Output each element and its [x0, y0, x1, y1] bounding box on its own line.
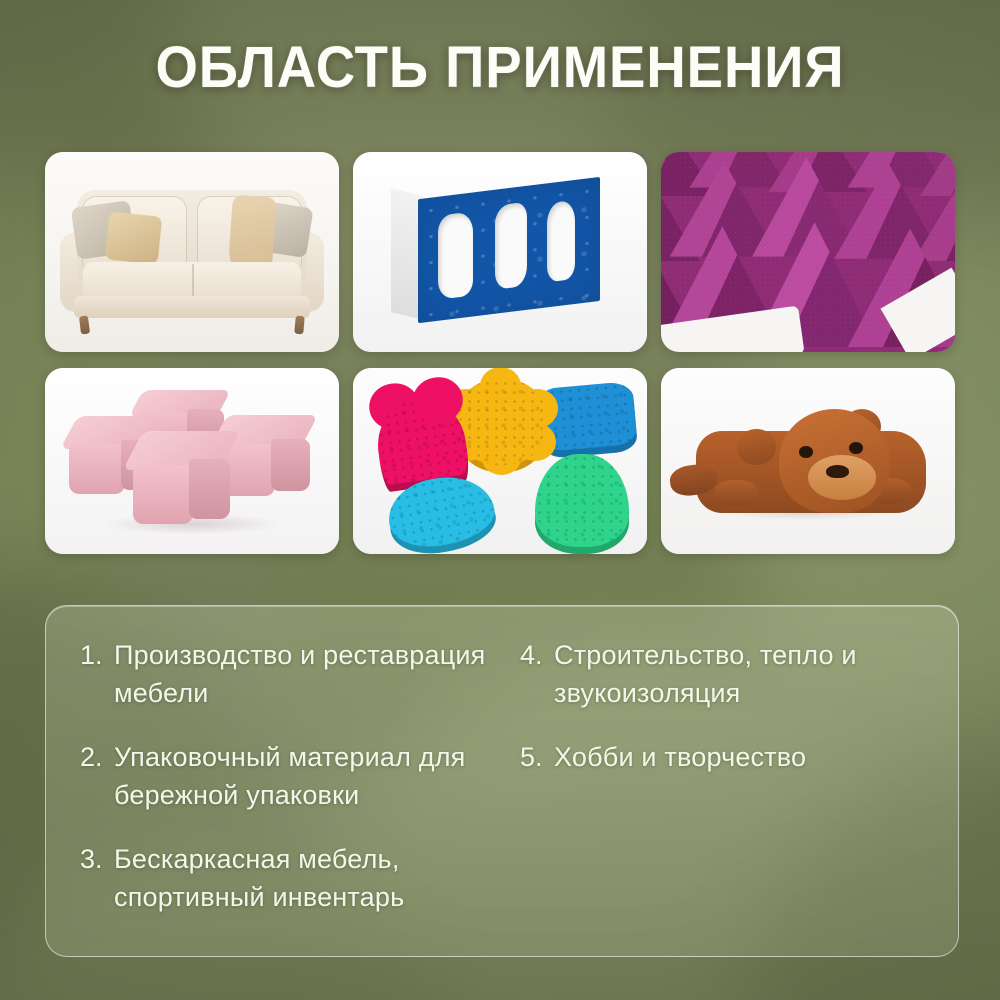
list-item: 3. Бескаркасная мебель, спортивный инвен…	[80, 840, 492, 916]
gallery-card-packaging[interactable]	[353, 152, 647, 352]
teddy-bear-pillow-photo	[661, 368, 955, 554]
gallery-card-sponges[interactable]	[353, 368, 647, 554]
gallery-card-teddy-bear[interactable]	[661, 368, 955, 554]
list-item: 4. Строительство, тепло и звукоизоляция	[520, 636, 932, 712]
list-item-label: Упаковочный материал для бережной упаков…	[114, 738, 492, 814]
list-item: 2. Упаковочный материал для бережной упа…	[80, 738, 492, 814]
list-item-label: Производство и реставрация мебели	[114, 636, 492, 712]
list-item-label: Хобби и творчество	[554, 738, 806, 776]
list-item: 1. Производство и реставрация мебели	[80, 636, 492, 712]
list-item-number: 5.	[520, 738, 554, 776]
beige-sofa-photo	[45, 152, 339, 352]
applications-panel: 1. Производство и реставрация мебели 2. …	[45, 605, 959, 957]
gallery-card-sofa[interactable]	[45, 152, 339, 352]
application-gallery	[45, 152, 955, 554]
promo-banner: ОБЛАСТЬ ПРИМЕНЕНИЯ	[0, 0, 1000, 1000]
list-item-number: 1.	[80, 636, 114, 712]
list-item-label: Бескаркасная мебель, спортивный инвентар…	[114, 840, 492, 916]
applications-column-right: 4. Строительство, тепло и звукоизоляция …	[492, 636, 932, 934]
gallery-card-acoustic-foam[interactable]	[661, 152, 955, 352]
blue-foam-packaging-photo	[353, 152, 647, 352]
list-item-label: Строительство, тепло и звукоизоляция	[554, 636, 932, 712]
purple-pyramid-foam-photo	[661, 152, 955, 352]
list-item-number: 3.	[80, 840, 114, 916]
list-item-number: 4.	[520, 636, 554, 712]
colored-sponges-photo	[353, 368, 647, 554]
list-item: 5. Хобби и творчество	[520, 738, 932, 776]
applications-column-left: 1. Производство и реставрация мебели 2. …	[80, 636, 492, 934]
gallery-card-poufs[interactable]	[45, 368, 339, 554]
page-title: ОБЛАСТЬ ПРИМЕНЕНИЯ	[30, 36, 970, 100]
list-item-number: 2.	[80, 738, 114, 814]
pink-cube-poufs-photo	[45, 368, 339, 554]
